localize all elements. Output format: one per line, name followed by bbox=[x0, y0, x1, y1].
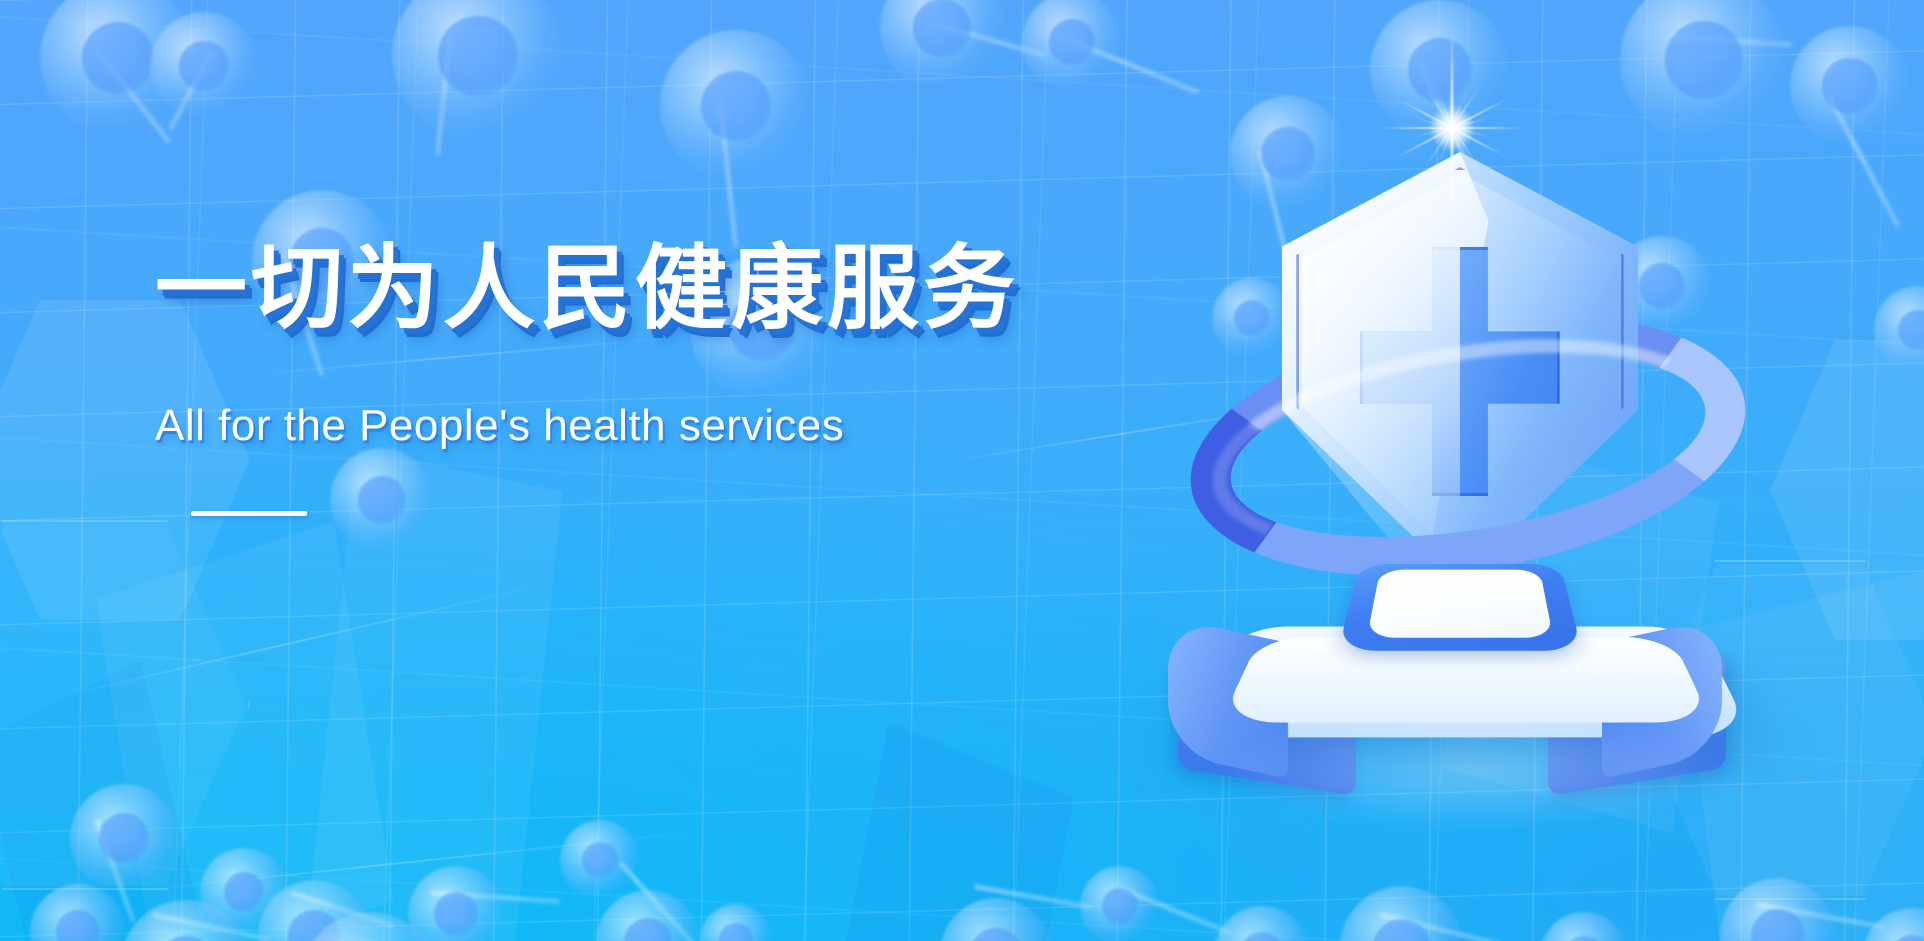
molecule-bond bbox=[435, 36, 453, 156]
molecule-bond bbox=[151, 912, 269, 941]
molecule-node bbox=[70, 784, 178, 892]
molecule-bond bbox=[168, 49, 215, 131]
molecule-bond bbox=[929, 20, 1046, 58]
molecule-node bbox=[1874, 286, 1924, 374]
molecule-bond bbox=[289, 890, 395, 929]
molecule-node bbox=[1340, 886, 1464, 941]
molecule-node bbox=[40, 0, 196, 136]
molecule-node bbox=[940, 898, 1052, 941]
hexagon-icon bbox=[1770, 340, 1924, 640]
molecule-bond bbox=[1756, 902, 1885, 929]
molecule-node bbox=[1022, 0, 1122, 92]
page-title: 一切为人民健康服务 bbox=[155, 243, 1075, 335]
shield-illustration bbox=[1150, 110, 1790, 810]
light-streak bbox=[122, 829, 719, 894]
light-streak bbox=[46, 582, 553, 701]
molecule-bond bbox=[94, 818, 136, 923]
molecule-bond bbox=[430, 890, 560, 904]
molecule-bond bbox=[94, 47, 172, 145]
molecule-node bbox=[392, 0, 564, 142]
title-divider bbox=[191, 511, 307, 516]
molecule-node bbox=[1862, 908, 1924, 941]
molecule-bond bbox=[1379, 912, 1516, 941]
molecule-node bbox=[700, 904, 772, 941]
molecule-node bbox=[258, 880, 370, 941]
molecule-node bbox=[660, 30, 812, 182]
molecule-node bbox=[200, 848, 288, 936]
shard-shape bbox=[96, 521, 394, 941]
hexagon-icon bbox=[0, 520, 250, 890]
molecule-bond bbox=[974, 884, 1093, 910]
molecule-node bbox=[1790, 26, 1910, 146]
molecule-node bbox=[596, 890, 700, 941]
pedestal-glow bbox=[1210, 710, 1730, 830]
molecule-node bbox=[150, 12, 258, 120]
shard-shape bbox=[308, 448, 563, 941]
shard-shape bbox=[0, 661, 201, 941]
page-subtitle: All for the People's health services bbox=[155, 403, 1075, 449]
sparkle-icon bbox=[1352, 28, 1552, 228]
molecule-bond bbox=[618, 861, 702, 941]
molecule-bond bbox=[1672, 34, 1792, 47]
molecule-node bbox=[300, 912, 440, 941]
molecule-node bbox=[1080, 866, 1160, 941]
molecule-node bbox=[408, 866, 504, 941]
molecule-node bbox=[1720, 878, 1836, 941]
pedestal-chip-face bbox=[1367, 570, 1554, 638]
headline-block: 一切为人民健康服务 All for the People's health se… bbox=[155, 243, 1075, 516]
molecule-node bbox=[1540, 912, 1628, 941]
molecule-bond bbox=[718, 98, 739, 248]
molecule-bond bbox=[1059, 34, 1200, 95]
molecule-node bbox=[560, 820, 640, 900]
molecule-node bbox=[30, 884, 126, 941]
molecule-node bbox=[880, 0, 1004, 90]
molecule-bond bbox=[1826, 93, 1901, 228]
shard-shape bbox=[846, 723, 1074, 941]
molecule-node bbox=[1214, 906, 1310, 941]
molecule-node bbox=[120, 900, 252, 941]
health-banner: 一切为人民健康服务 All for the People's health se… bbox=[0, 0, 1924, 941]
molecule-bond bbox=[1119, 886, 1232, 936]
